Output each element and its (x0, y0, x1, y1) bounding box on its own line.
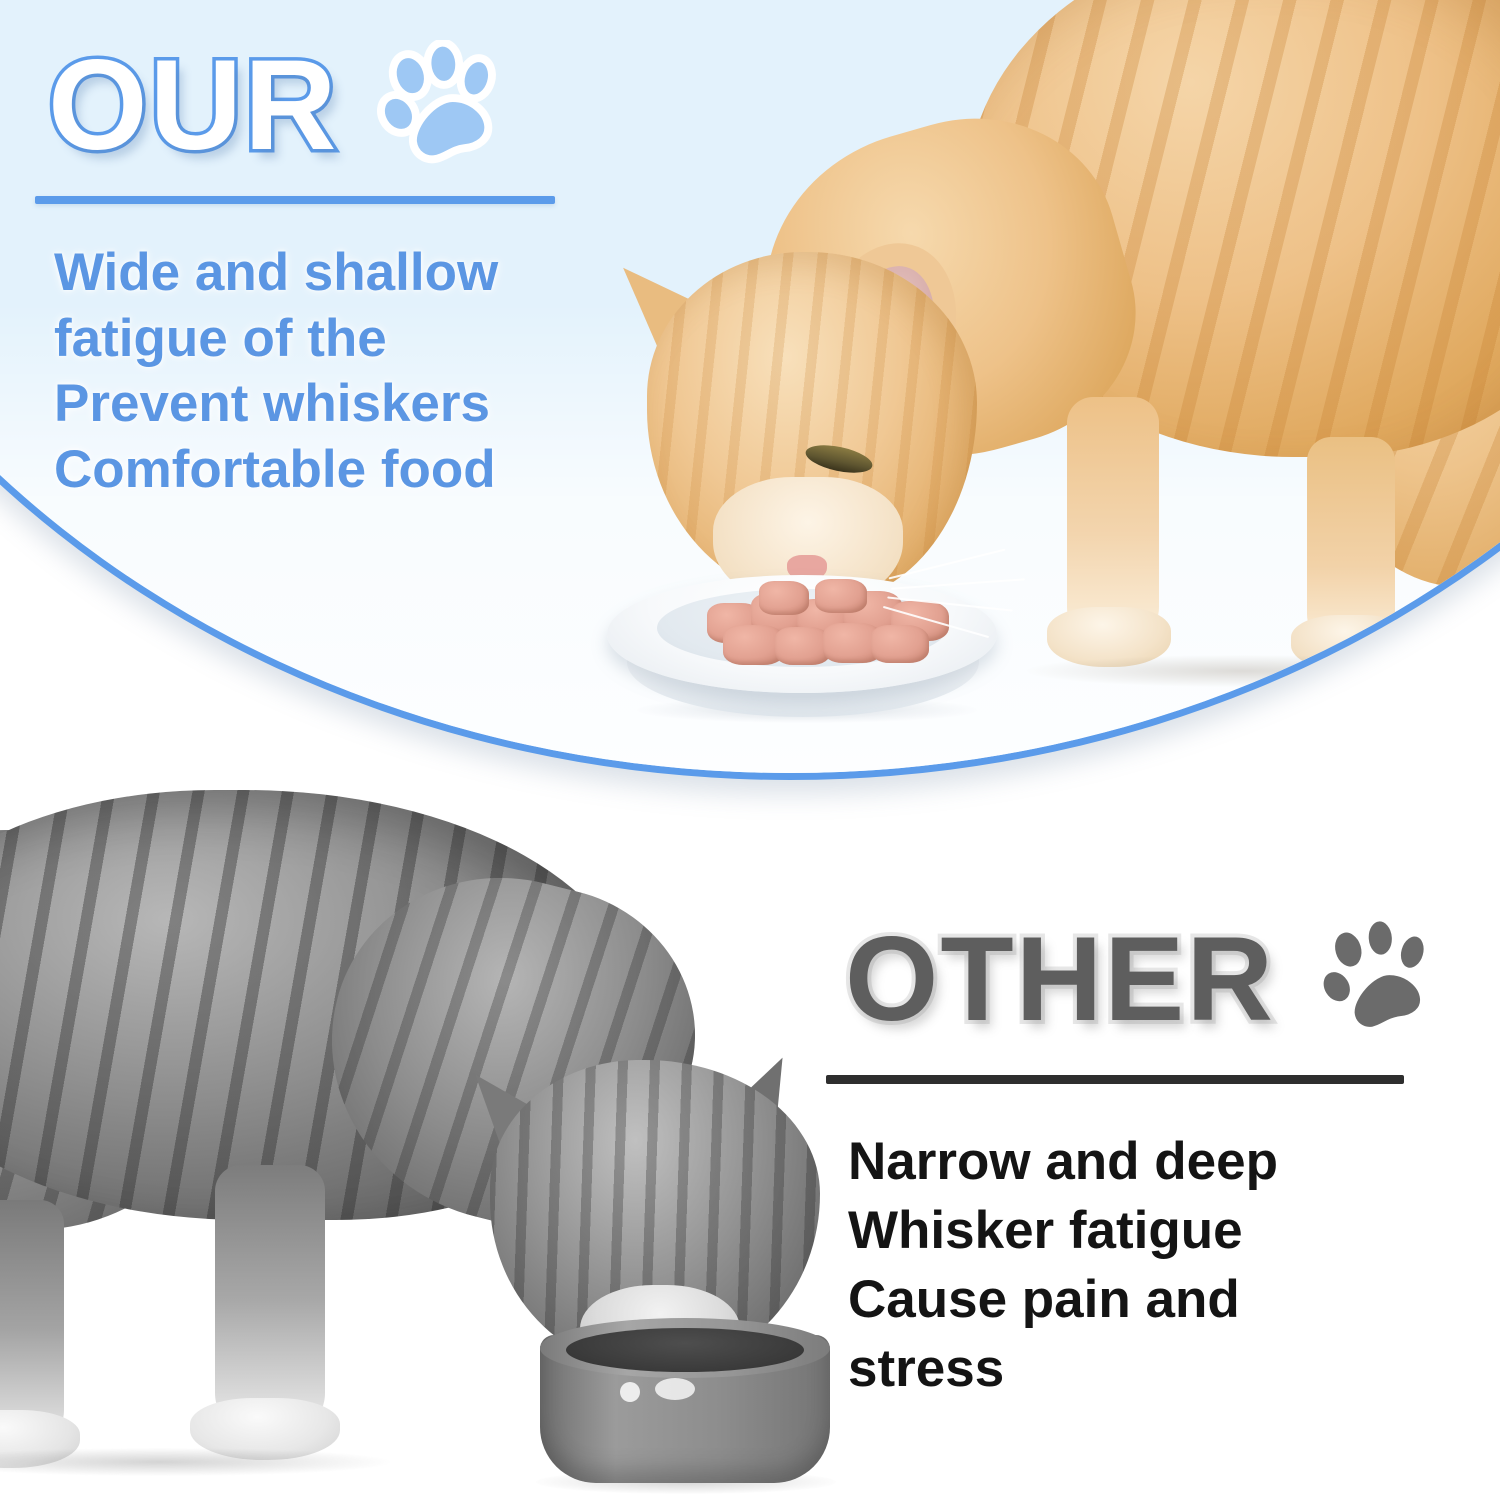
other-drawback-line: stress (848, 1335, 1448, 1404)
gray-bowl-interior (566, 1328, 804, 1372)
paw-print-icon (1315, 915, 1443, 1043)
gray-cat-shadow (0, 1448, 390, 1476)
our-benefit-line: Prevent whiskers (54, 371, 614, 437)
our-benefit-line: Wide and shallow (54, 240, 614, 306)
our-benefit-list: Wide and shallow fatigue of the Prevent … (54, 240, 614, 503)
other-drawback-line: Cause pain and (848, 1266, 1448, 1335)
gray-bowl-highlight (620, 1382, 640, 1402)
food-chunk (815, 579, 867, 613)
other-drawback-list: Narrow and deep Whisker fatigue Cause pa… (848, 1128, 1448, 1404)
whisker (891, 578, 1025, 589)
our-divider (35, 196, 555, 204)
gray-cat-front-leg (215, 1165, 325, 1435)
food-chunk (759, 581, 809, 615)
infographic-canvas: OUR Wide and shallow fatigue of the Prev… (0, 0, 1500, 1500)
other-header: OTHER (845, 915, 1443, 1043)
other-title: OTHER (845, 919, 1275, 1039)
our-benefit-line: Comfortable food (54, 437, 614, 503)
food-chunk (871, 625, 929, 663)
paw-print-icon (376, 40, 508, 172)
other-drawback-line: Whisker fatigue (848, 1197, 1448, 1266)
other-divider (826, 1075, 1404, 1084)
other-drawback-line: Narrow and deep (848, 1128, 1448, 1197)
our-title: OUR (48, 42, 338, 170)
our-benefit-line: fatigue of the (54, 306, 614, 372)
orange-cat-shadow (1027, 655, 1457, 687)
our-header: OUR (48, 40, 508, 172)
gray-bowl-highlight (655, 1378, 695, 1400)
